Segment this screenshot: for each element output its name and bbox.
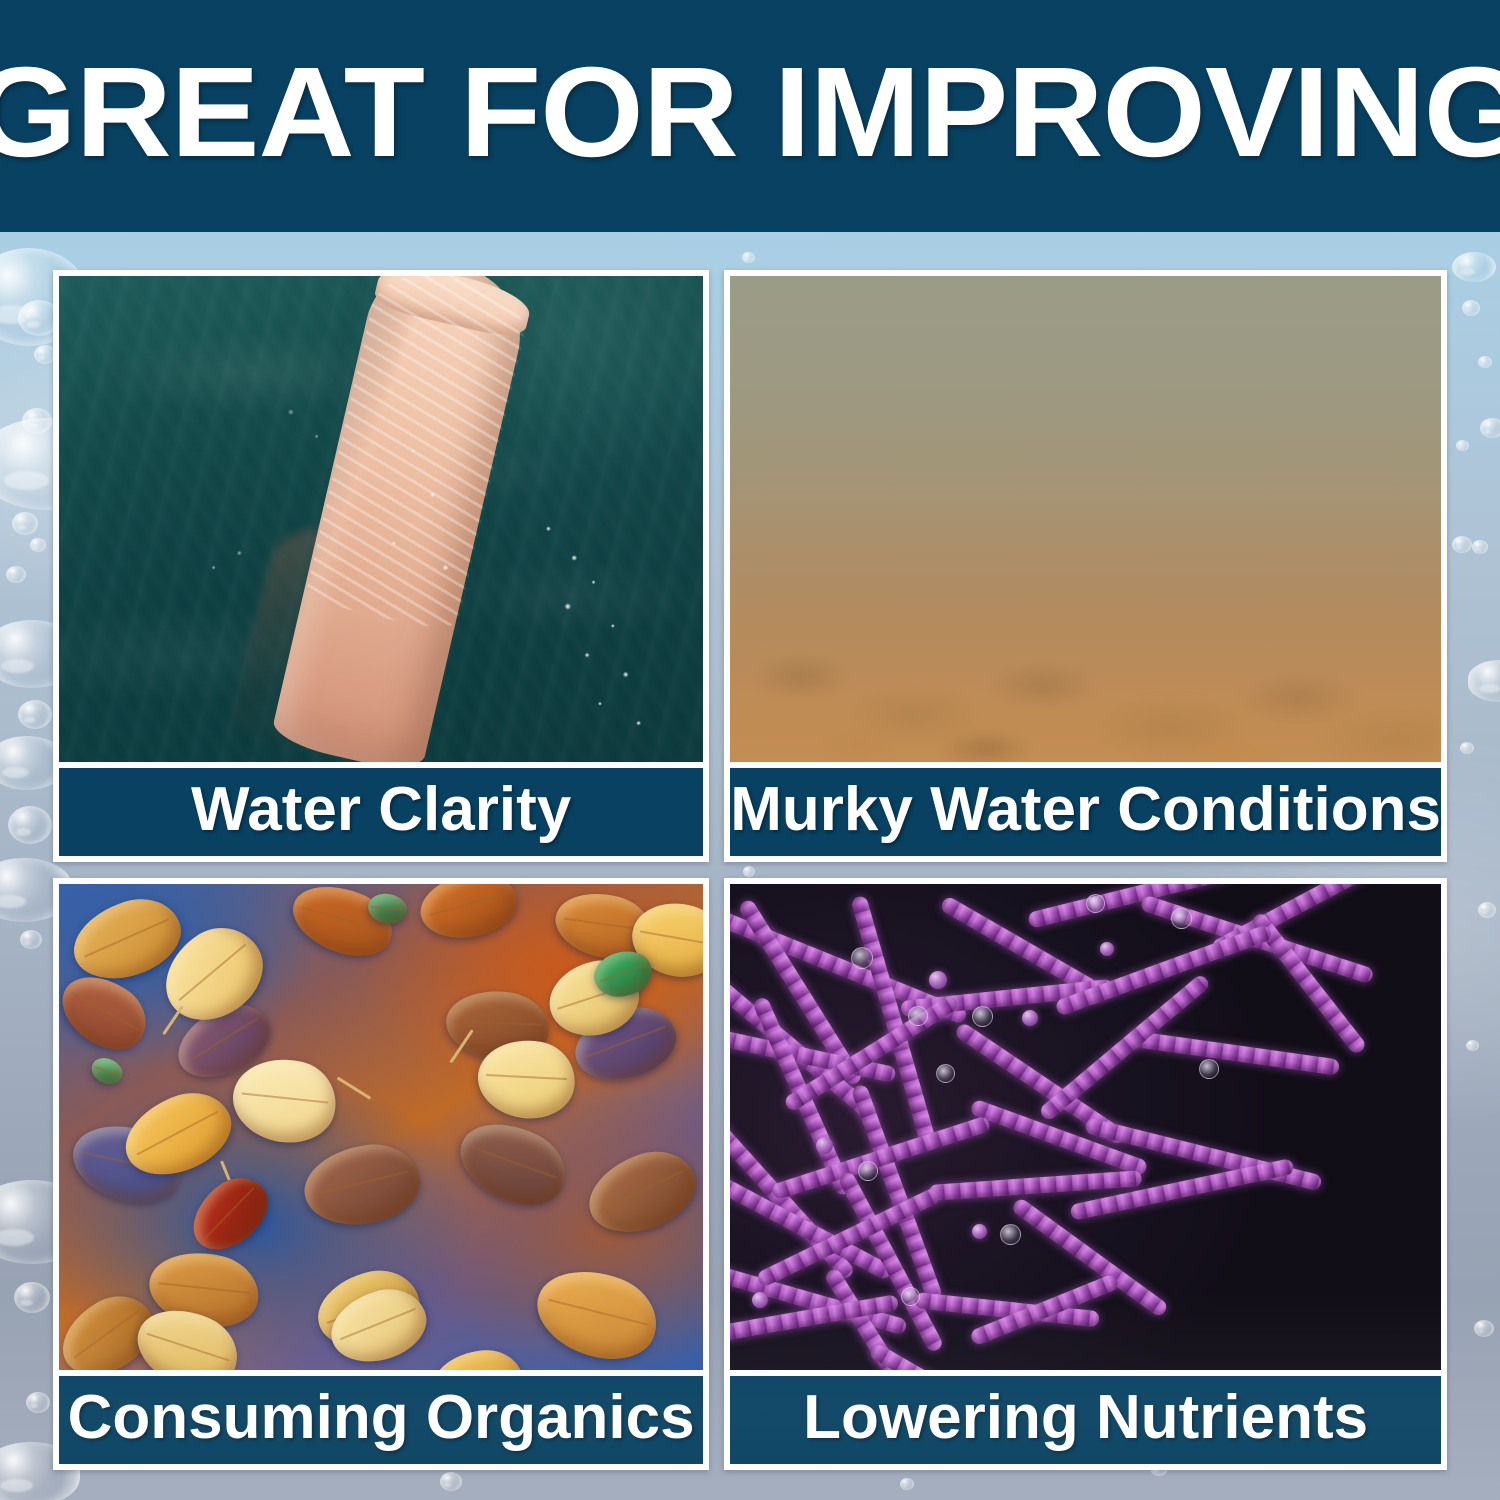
leaf-shape — [448, 1107, 578, 1221]
heterocyst-cell — [1199, 1059, 1219, 1079]
photo-autumn-leaves — [59, 884, 703, 1370]
leaf-shape — [430, 1346, 526, 1370]
photo-cyanobacteria — [730, 884, 1441, 1370]
caption-bar-water-clarity: Water Clarity — [59, 768, 703, 856]
cyanobacteria-filament — [1127, 1030, 1340, 1076]
heterocyst-cell — [1086, 894, 1105, 913]
card-lowering-nutrients[interactable]: Lowering Nutrients — [724, 878, 1447, 1470]
cyanobacteria-cell — [816, 1137, 833, 1154]
heterocyst-cell — [1171, 908, 1192, 929]
feature-grid: Water Clarity Murky Water Conditions — [53, 270, 1447, 1470]
leaf-shape — [525, 1254, 668, 1370]
photo-murky-water — [730, 276, 1441, 762]
leaf-shape — [179, 1165, 281, 1264]
leaf-stem — [337, 1077, 371, 1100]
caption-label: Lowering Nutrients — [803, 1387, 1368, 1453]
heterocyst-cell — [858, 1161, 878, 1181]
cyanobacteria-cell — [752, 1292, 768, 1308]
turbidity-haze-overlay — [730, 276, 1441, 762]
caption-label: Water Clarity — [191, 779, 571, 845]
cyanobacteria-cell — [1022, 1010, 1038, 1026]
cyanobacteria-cell — [972, 1224, 987, 1239]
cyanobacteria-cell — [1100, 942, 1114, 956]
header-banner: GREAT FOR IMPROVING — [0, 0, 1500, 232]
cyanobacteria-cell — [929, 971, 947, 989]
caption-bar-consuming-organics: Consuming Organics — [59, 1376, 703, 1464]
photo-water-clarity — [59, 276, 703, 762]
card-murky-water-conditions[interactable]: Murky Water Conditions — [724, 270, 1447, 862]
card-water-clarity[interactable]: Water Clarity — [53, 270, 709, 862]
splash-droplets — [59, 276, 703, 762]
card-consuming-organics[interactable]: Consuming Organics — [53, 878, 709, 1470]
cyanobacteria-filament — [1070, 1158, 1296, 1221]
heterocyst-cell — [972, 1006, 993, 1027]
heterocyst-cell — [908, 1006, 928, 1026]
heterocyst-cell — [936, 1064, 955, 1083]
heterocyst-cell — [1000, 1224, 1021, 1245]
leaf-stem — [163, 1005, 184, 1035]
leaf-shape — [299, 1139, 425, 1232]
leaf-shape-green — [88, 1053, 127, 1088]
page-title: GREAT FOR IMPROVING — [0, 49, 1500, 183]
caption-bar-murky-water-conditions: Murky Water Conditions — [730, 768, 1441, 856]
leaf-shape — [578, 1140, 703, 1246]
cyanobacteria-filament — [868, 1342, 1024, 1370]
leaf-shape — [415, 884, 521, 945]
poster-root: GREAT FOR IMPROVING Water Clarity — [0, 0, 1500, 1500]
caption-label: Murky Water Conditions — [730, 779, 1441, 845]
caption-label: Consuming Organics — [68, 1387, 695, 1453]
caption-bar-lowering-nutrients: Lowering Nutrients — [730, 1376, 1441, 1464]
